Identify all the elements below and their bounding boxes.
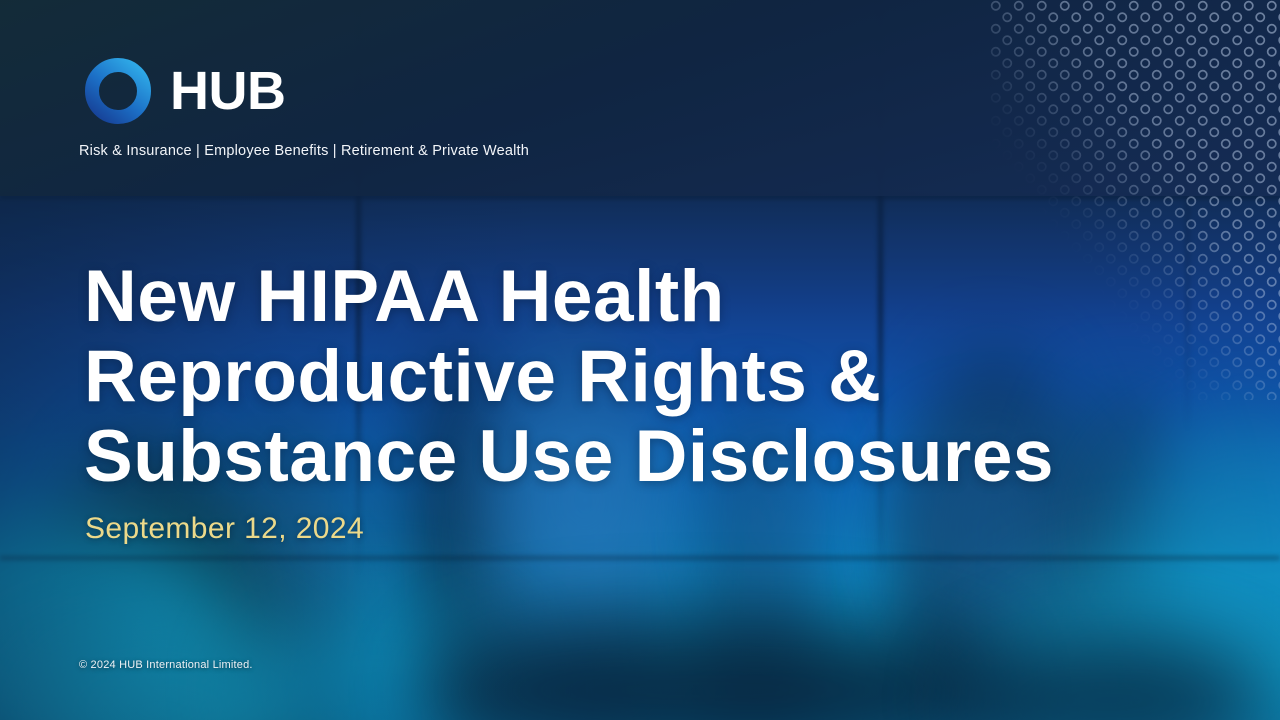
presentation-title-slide: HUB Risk & Insurance | Employee Benefits… xyxy=(0,0,1280,720)
hub-wordmark: HUB xyxy=(170,64,286,118)
page-title-line-3: Substance Use Disclosures xyxy=(84,417,1204,497)
copyright-notice: © 2024 HUB International Limited. xyxy=(79,659,253,671)
page-title-line-1: New HIPAA Health xyxy=(84,257,1204,337)
presentation-date: September 12, 2024 xyxy=(85,512,364,546)
brand-tagline: Risk & Insurance | Employee Benefits | R… xyxy=(79,143,529,159)
page-title: New HIPAA Health Reproductive Rights & S… xyxy=(84,257,1204,497)
hub-logo: HUB xyxy=(84,57,286,125)
hub-ring-logo-icon xyxy=(84,57,152,125)
page-title-line-2: Reproductive Rights & xyxy=(84,337,1204,417)
